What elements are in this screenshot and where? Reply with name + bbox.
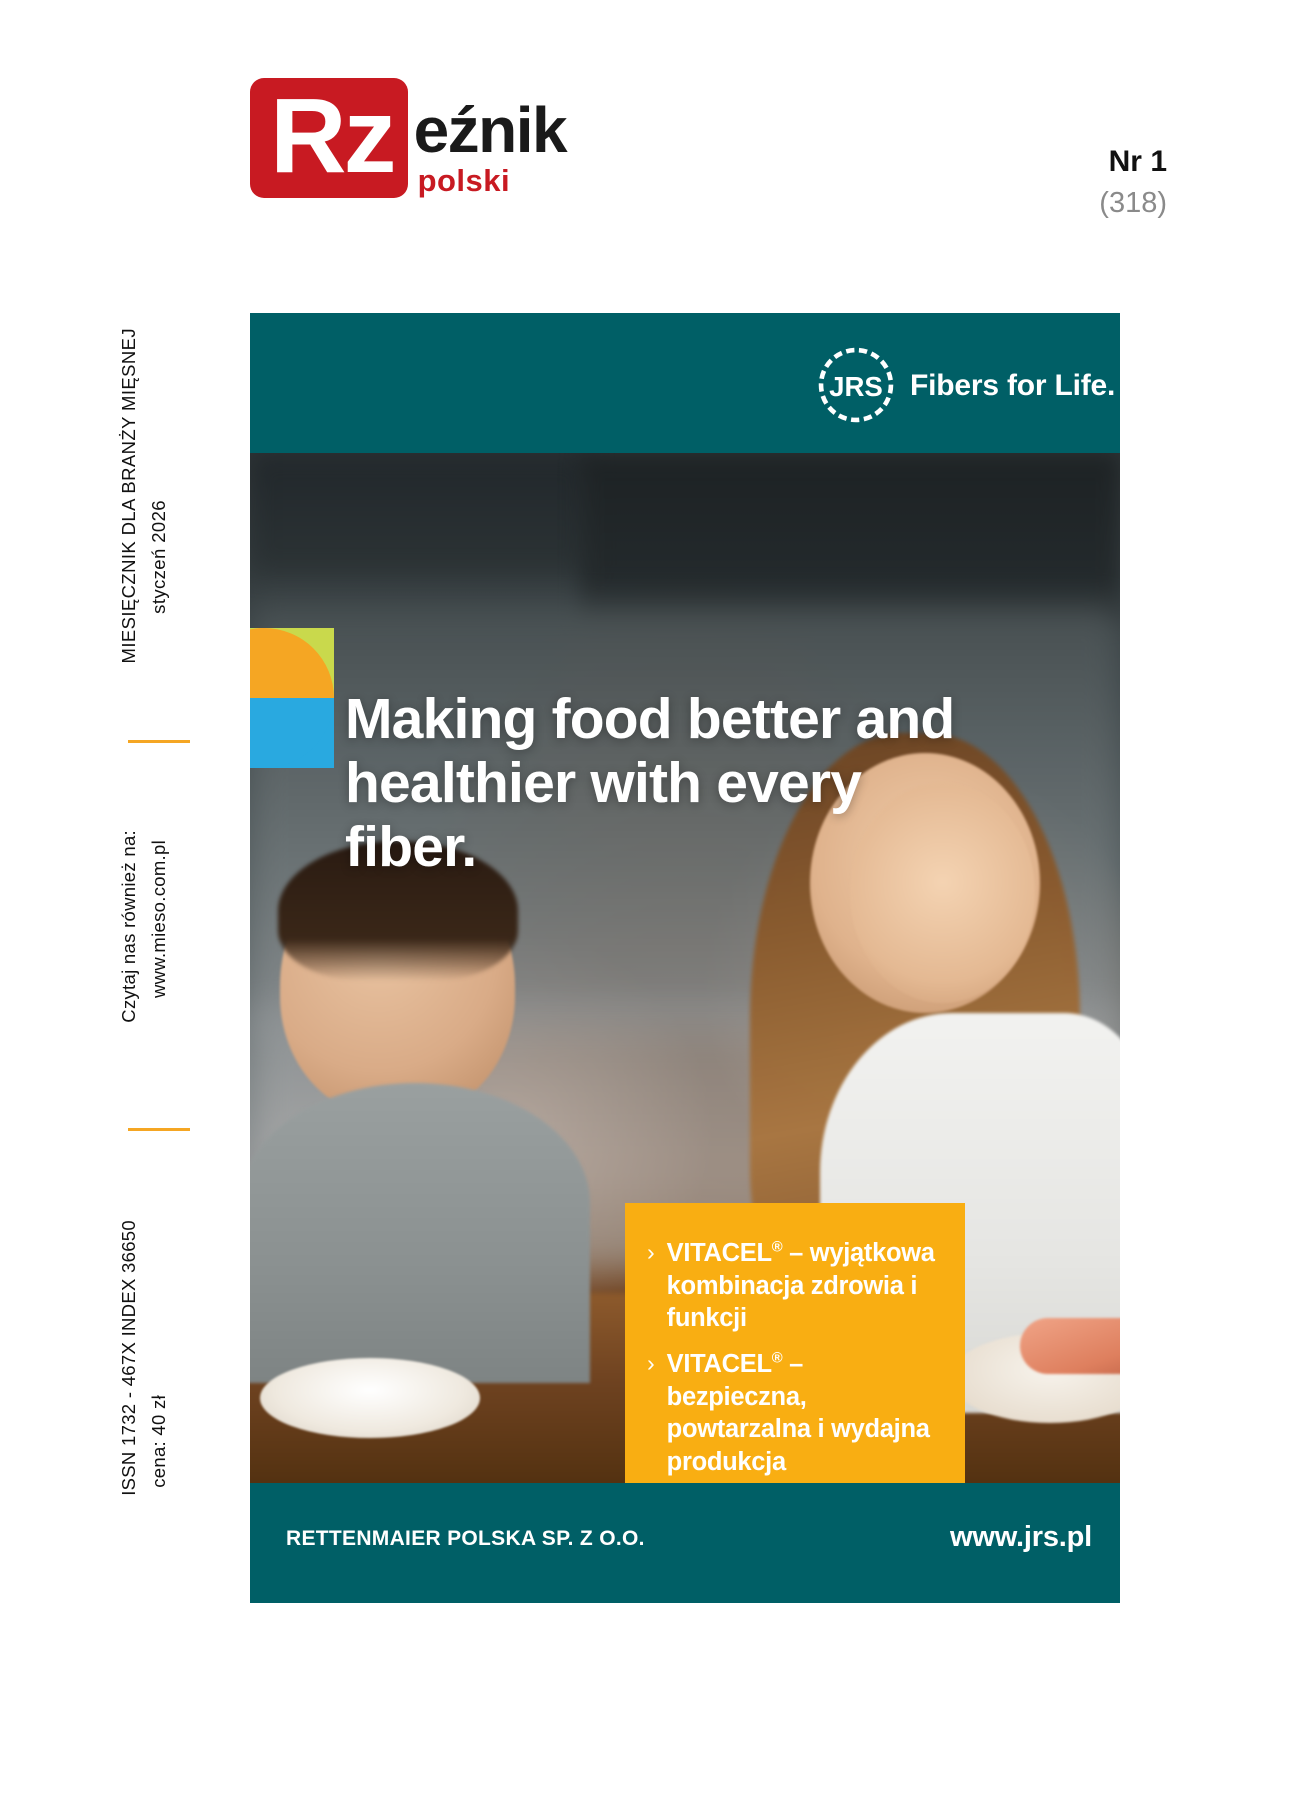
masthead: Rz eźnik polski Nr 1 (318) [0,0,1295,310]
sidebar-issn-index: ISSN 1732 - 467X INDEX 36650 [118,1220,140,1496]
sidebar-tagline: MIESIĘCZNIK DLA BRANŻY MIĘSNEJ [118,328,140,663]
sidebar-price: cena: 40 zł [148,1395,170,1488]
ad-photo: Making food better and healthier with ev… [250,453,1120,1483]
benefit-text: VITACEL® – bezpieczna, powtarzalna i wyd… [667,1348,939,1479]
ad-headline: Making food better and healthier with ev… [345,688,985,879]
logo-wordmark: eźnik polski [414,78,567,199]
photo-boy-body [250,1083,590,1383]
sidebar-divider-1 [128,740,190,743]
jrs-gear-icon: JRS [810,339,902,431]
issue-number-block: Nr 1 (318) [1099,145,1167,220]
ad-website-link[interactable]: www.jrs.pl [950,1521,1092,1554]
logo-mark: Rz [250,78,408,198]
left-info-sidebar: MIESIĘCZNIK DLA BRANŻY MIĘSNEJ styczeń 2… [110,310,205,1620]
registered-mark-icon: ® [772,1350,783,1366]
magazine-cover: Rz eźnik polski Nr 1 (318) MIESIĘCZNIK D… [0,0,1295,1800]
benefit-text: VITACEL® – wyjątkowa kombinacja zdrowia … [667,1237,939,1335]
ad-footer-bar: RETTENMAIER POLSKA SP. Z O.O. www.jrs.pl [250,1483,1120,1603]
sidebar-website[interactable]: www.mieso.com.pl [148,840,170,998]
issue-number: Nr 1 [1099,145,1167,179]
registered-mark-icon: ® [772,1240,783,1256]
ad-company-name: RETTENMAIER POLSKA SP. Z O.O. [286,1527,645,1551]
issue-consecutive-number: (318) [1099,187,1167,220]
logo-name-sub: polski [418,163,567,199]
logo-mark-text: Rz [270,88,394,186]
benefit-item: › VITACEL® – wyjątkowa kombinacja zdrowi… [647,1237,939,1335]
magazine-logo[interactable]: Rz eźnik polski [250,78,566,199]
ad-benefits-callout: › VITACEL® – wyjątkowa kombinacja zdrowi… [625,1203,965,1483]
ad-header-bar: JRS Fibers for Life. [250,313,1120,453]
sidebar-read-also-label: Czytaj nas również na: [118,830,140,1023]
chevron-right-icon: › [647,1237,655,1267]
sidebar-divider-2 [128,1128,190,1131]
photo-sausage [1020,1318,1120,1374]
benefit-item: › VITACEL® – bezpieczna, powtarzalna i w… [647,1348,939,1479]
photo-bg-cabinet-left [250,453,590,573]
chevron-right-icon: › [647,1348,655,1378]
photo-bg-cabinet-right [580,453,1120,623]
brand-color-mark-icon [250,628,334,768]
logo-name-main: eźnik [414,100,567,161]
photo-plate-left [260,1358,480,1438]
advertisement[interactable]: JRS Fibers for Life. [250,313,1120,1603]
jrs-tagline: Fibers for Life. [910,369,1115,403]
sidebar-issue-date: styczeń 2026 [148,500,170,614]
jrs-logo-text: JRS [829,371,883,402]
